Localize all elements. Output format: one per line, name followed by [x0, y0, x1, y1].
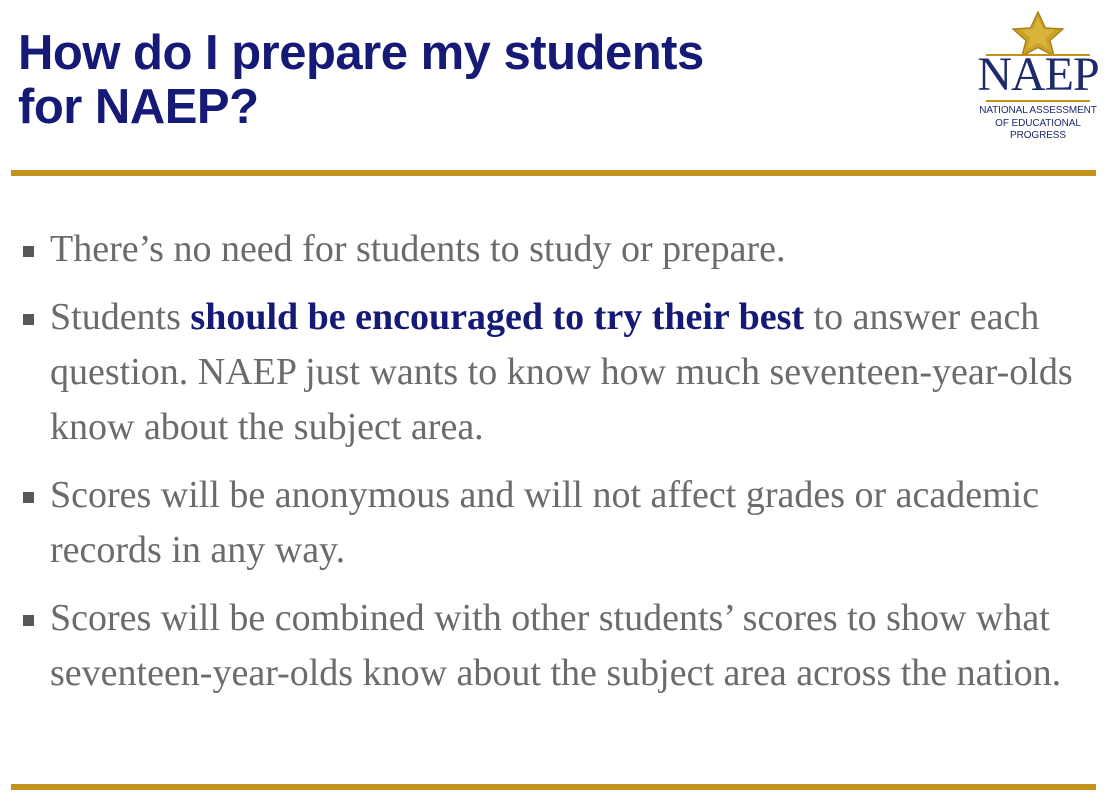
title-divider-rule: [11, 170, 1096, 176]
bullet-list: There’s no need for students to study or…: [18, 222, 1088, 701]
square-bullet-icon: [23, 246, 34, 257]
naep-logo: NAEP NATIONAL ASSESSMENT OF EDUCATIONAL …: [972, 8, 1104, 148]
list-item: There’s no need for students to study or…: [18, 222, 1088, 277]
list-item: Students should be encouraged to try the…: [18, 290, 1088, 455]
square-bullet-icon: [23, 492, 34, 503]
list-item-text-pre: There’s no need for students to study or…: [50, 228, 786, 270]
list-item-text-pre: Scores will be combined with other stude…: [50, 597, 1061, 694]
footer-divider-rule: [11, 784, 1096, 790]
slide-canvas: How do I prepare my students for NAEP? N…: [0, 0, 1114, 804]
list-item-text-pre: Students: [50, 296, 190, 338]
square-bullet-icon: [23, 314, 34, 325]
logo-subtitle-line-1: NATIONAL ASSESSMENT: [972, 105, 1104, 118]
list-item-text: Scores will be combined with other stude…: [50, 597, 1061, 694]
page-title: How do I prepare my students for NAEP?: [18, 26, 948, 134]
list-item-text-pre: Scores will be anonymous and will not af…: [50, 474, 1039, 571]
list-item-text-emphasis: should be encouraged to try their best: [190, 296, 804, 338]
logo-bottom-rule: [986, 100, 1090, 102]
logo-subtitle: NATIONAL ASSESSMENT OF EDUCATIONAL PROGR…: [972, 105, 1104, 143]
list-item-text: There’s no need for students to study or…: [50, 228, 786, 270]
logo-wordmark: NAEP: [972, 50, 1104, 100]
logo-subtitle-line-3: PROGRESS: [972, 130, 1104, 143]
square-bullet-icon: [23, 615, 34, 626]
list-item-text: Scores will be anonymous and will not af…: [50, 474, 1039, 571]
list-item: Scores will be combined with other stude…: [18, 591, 1088, 701]
logo-subtitle-line-2: OF EDUCATIONAL: [972, 118, 1104, 131]
list-item-text: Students should be encouraged to try the…: [50, 296, 1073, 448]
list-item: Scores will be anonymous and will not af…: [18, 468, 1088, 578]
